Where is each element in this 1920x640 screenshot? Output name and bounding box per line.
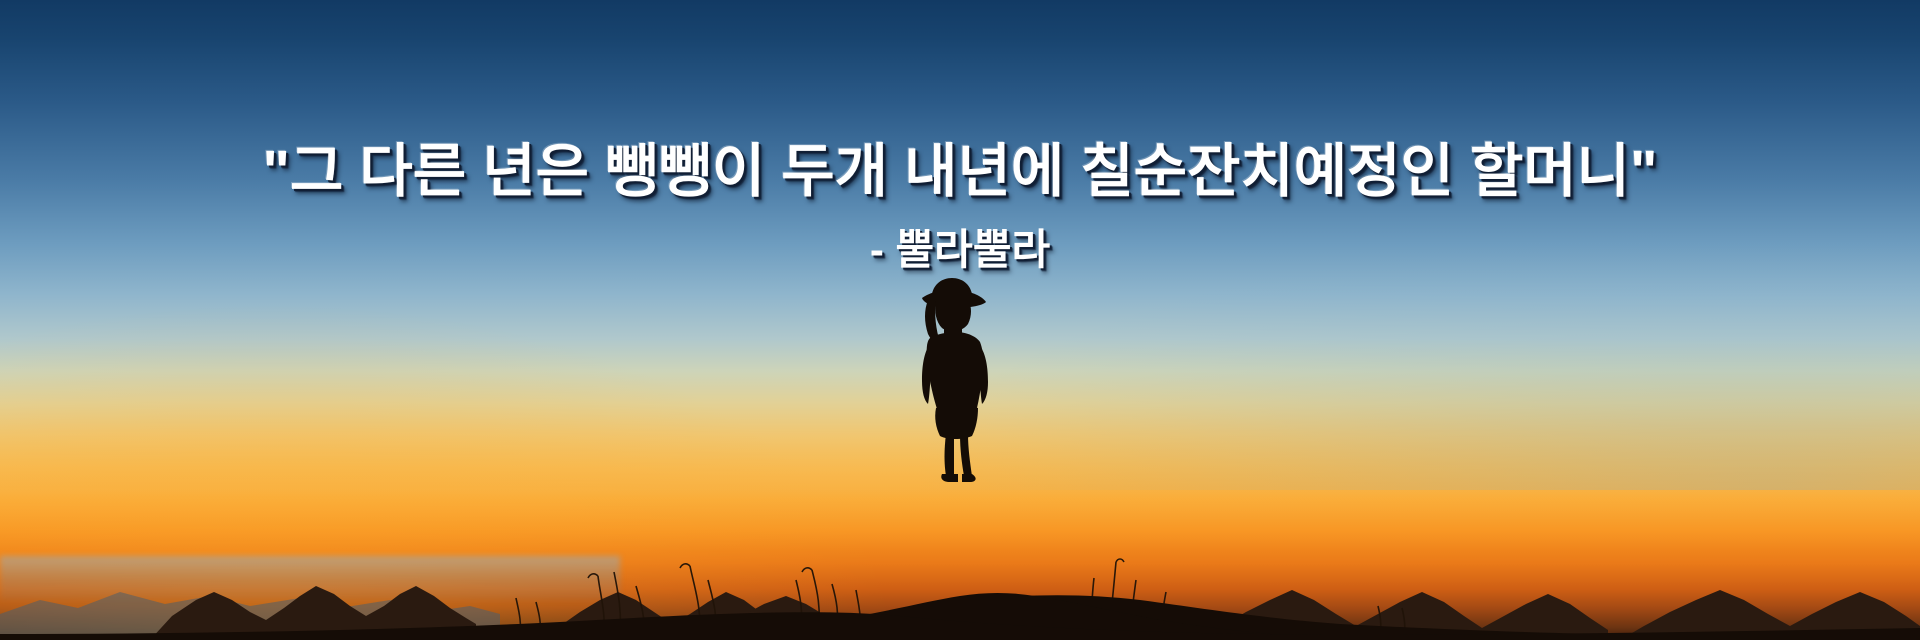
quote-banner: "그 다른 년은 뺑뺑이 두개 내년에 칠순잔치예정인 할머니" - 뿔라뿔라 <box>0 0 1920 640</box>
person-silhouette <box>0 0 1920 640</box>
